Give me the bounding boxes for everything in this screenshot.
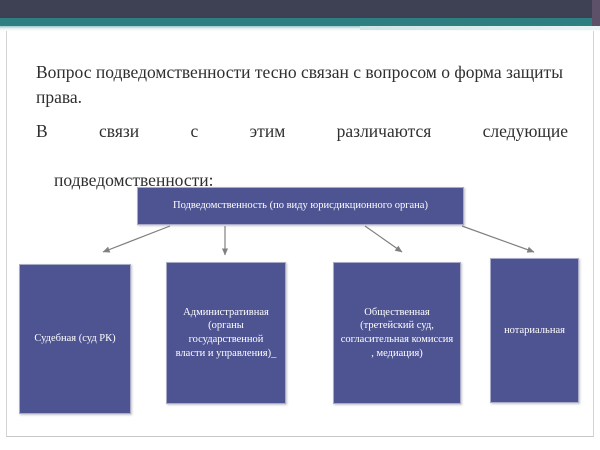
diagram-node-judicial-label: Судебная (суд РК) [28, 332, 121, 346]
diagram-node-administrative[interactable]: Административная (органы государственной… [166, 262, 286, 404]
connector-to-judicial [103, 226, 170, 252]
diagram-node-notary[interactable]: нотариальная [490, 258, 579, 403]
diagram-node-public[interactable]: Общественная (третейский суд, согласител… [333, 262, 461, 404]
diagram-node-judicial[interactable]: Судебная (суд РК) [19, 264, 131, 414]
hierarchy-diagram: Подведомственность (по виду юрисдикционн… [0, 0, 600, 450]
diagram-node-notary-label: нотариальная [498, 324, 571, 338]
presentation-slide: Вопрос подведомственности тесно связан с… [0, 0, 600, 450]
diagram-node-root[interactable]: Подведомственность (по виду юрисдикционн… [137, 187, 464, 225]
diagram-node-administrative-label: Административная (органы государственной… [167, 306, 285, 361]
diagram-node-public-label: Общественная (третейский суд, согласител… [334, 306, 460, 361]
diagram-node-root-label: Подведомственность (по виду юрисдикционн… [167, 199, 434, 213]
connector-to-public [365, 226, 402, 252]
connector-to-notary [462, 226, 534, 252]
